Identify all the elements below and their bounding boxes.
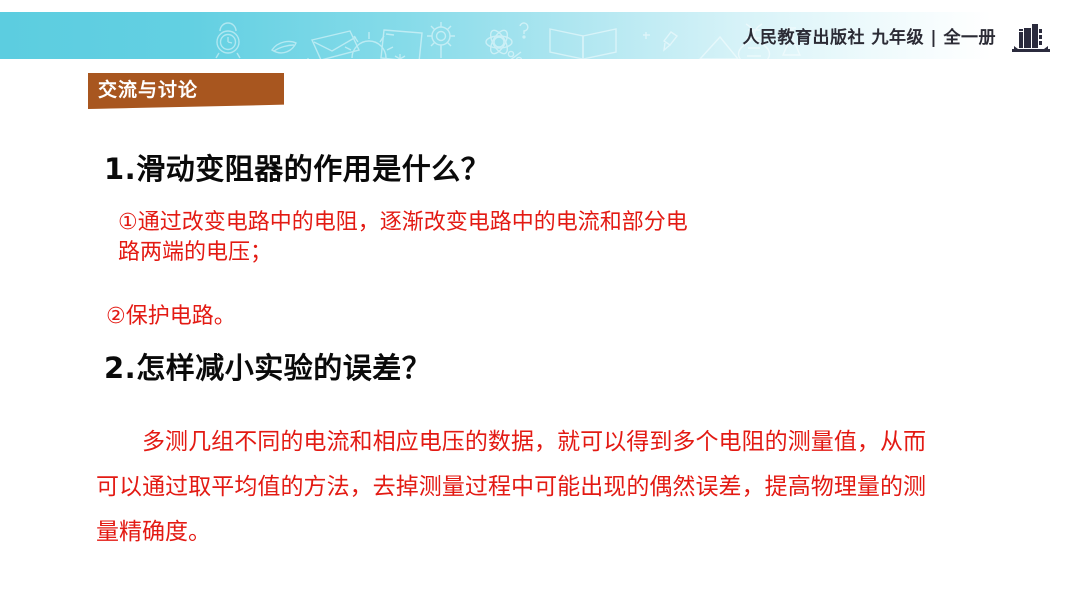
books-icon [1010, 19, 1052, 53]
slide-root: 人民教育出版社 九年级 | 全一册 交流与讨论 [0, 0, 1066, 600]
section-banner-label: 交流与讨论 [88, 81, 198, 100]
header-title: 人民教育出版社 九年级 | 全一册 [743, 23, 996, 48]
question-2-title: 2.怎样减小实验的误差？ [104, 345, 431, 387]
answer-line-1: ①通过改变电路中的电阻，逐渐改变电路中的电流和部分电 [118, 210, 688, 235]
question-1-answer-second: ②保护电路。 [106, 302, 236, 332]
question-1-title: 1.滑动变阻器的作用是什么？ [104, 146, 490, 188]
section-banner: 交流与讨论 [88, 73, 284, 109]
question-2-answer-paragraph: 多测几组不同的电流和相应电压的数据，就可以得到多个电阻的测量值，从而可以通过取平… [96, 420, 926, 555]
question-1-answer-first: ①通过改变电路中的电阻，逐渐改变电路中的电流和部分电路两端的电压； [118, 208, 858, 268]
answer-line-2: 路两端的电压； [118, 238, 858, 268]
header-right-group: 人民教育出版社 九年级 | 全一册 [743, 12, 1052, 59]
